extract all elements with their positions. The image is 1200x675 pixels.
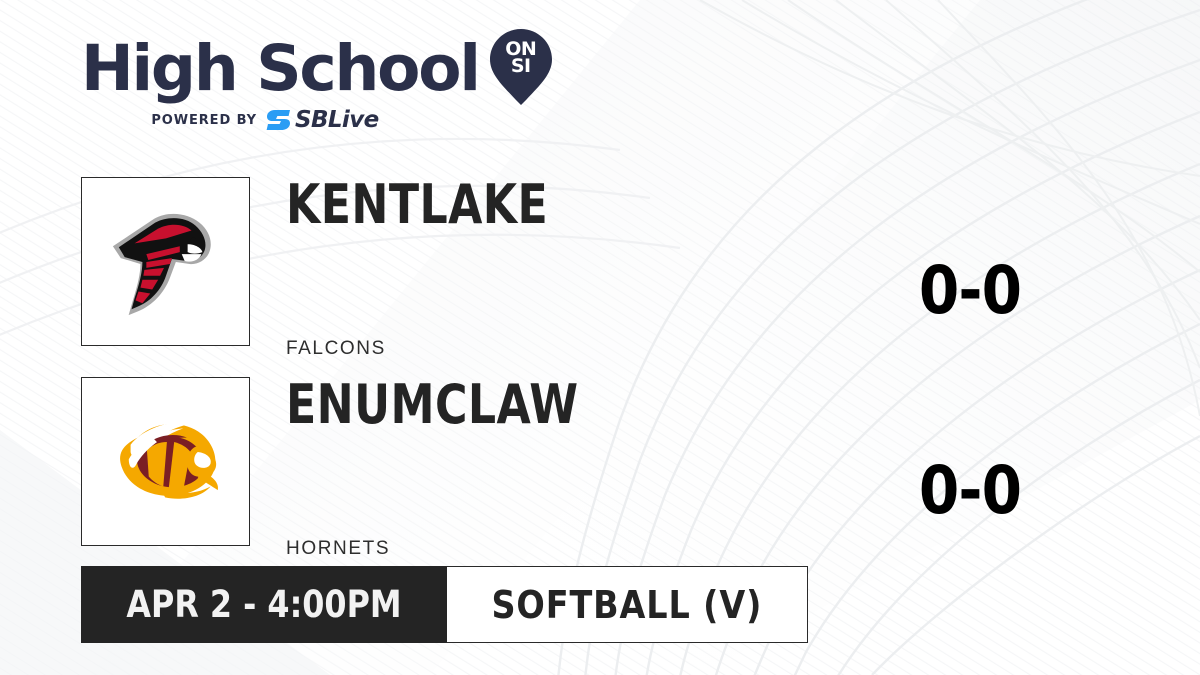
- event-sport-label: SOFTBALL (V): [491, 586, 762, 624]
- falcon-logo-icon: [107, 203, 225, 321]
- page-title: High School: [81, 37, 479, 100]
- onsi-pin-line2: SI: [490, 58, 552, 75]
- team-mascot-falcons: FALCONS: [286, 338, 386, 360]
- team-record-kentlake: 0-0: [882, 258, 1058, 324]
- team-logo-box-enumclaw: [81, 377, 250, 546]
- powered-by-row: POWERED BY SBLive: [81, 109, 449, 131]
- event-datetime-block: APR 2 - 4:00PM: [81, 566, 447, 643]
- onsi-pin-icon: ON SI: [490, 29, 521, 105]
- team-mascot-hornets: HORNETS: [286, 538, 390, 560]
- sblive-logo: SBLive: [266, 109, 379, 132]
- event-datetime-label: APR 2 - 4:00PM: [126, 586, 401, 623]
- powered-by-label: POWERED BY: [151, 113, 257, 128]
- team-name-kentlake: KENTLAKE: [286, 178, 548, 232]
- brand-header: High School ON SI POWERED BY SBLive: [81, 32, 521, 132]
- event-sport-block: SOFTBALL (V): [447, 566, 808, 643]
- team-name-enumclaw: ENUMCLAW: [286, 378, 578, 432]
- brand-title-row: High School ON SI: [81, 32, 521, 104]
- team-logo-box-kentlake: [81, 177, 250, 346]
- sblive-s-mark: [266, 109, 292, 131]
- team-record-enumclaw: 0-0: [882, 458, 1058, 524]
- sblive-wordmark: SBLive: [295, 109, 379, 132]
- hornet-logo-icon: [107, 407, 225, 517]
- onsi-pin-label: ON SI: [490, 41, 552, 75]
- event-info-bar: APR 2 - 4:00PM SOFTBALL (V): [81, 566, 808, 643]
